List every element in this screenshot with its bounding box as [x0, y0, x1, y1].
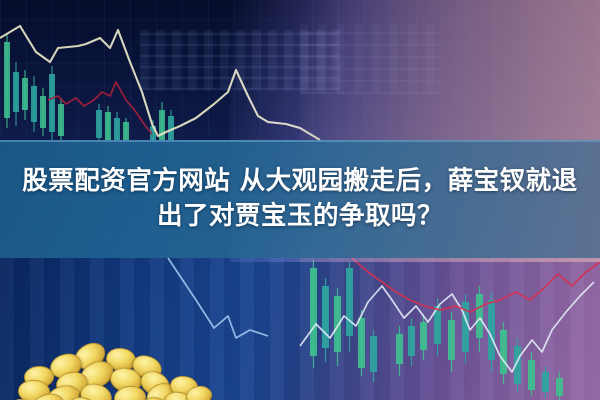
gold-coin-pile — [10, 342, 200, 400]
bottom-mauve-overlay — [300, 258, 600, 400]
headline-line-1: 股票配资官方网站 从大观园搬走后，薛宝钗就退 — [22, 166, 577, 197]
headline-line-2: 出了对贾宝玉的争取吗？ — [157, 201, 443, 232]
banner-image: 股票配资官方网站 从大观园搬走后，薛宝钗就退 出了对贾宝玉的争取吗？ — [0, 0, 600, 400]
headline-text: 股票配资官方网站 从大观园搬走后，薛宝钗就退 出了对贾宝玉的争取吗？ — [0, 140, 600, 258]
